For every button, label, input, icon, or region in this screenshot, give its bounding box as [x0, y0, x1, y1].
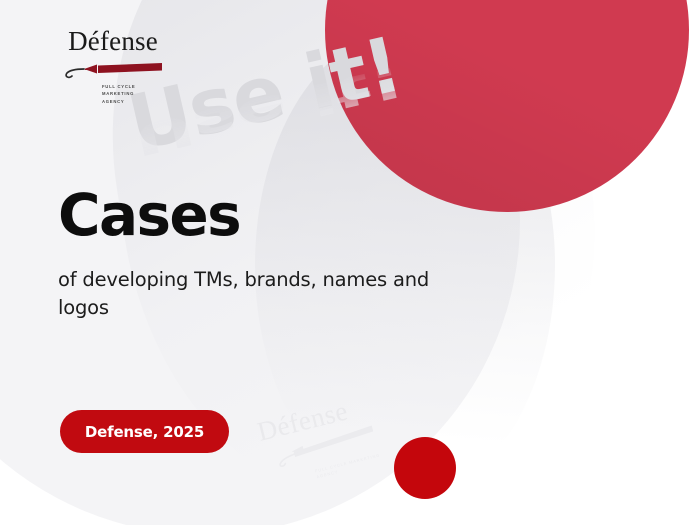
umbrella-icon: [58, 58, 168, 80]
brand-wordmark: Défense: [58, 28, 168, 55]
page-title: Cases: [58, 186, 458, 244]
brand-logo[interactable]: Défense FULL CYCLE MARKETING AGENCY: [58, 28, 168, 105]
small-red-circle-shape: [394, 437, 456, 499]
page-subtitle: of developing TMs, brands, names and log…: [58, 266, 430, 321]
defense-year-button[interactable]: Defense, 2025: [60, 410, 229, 453]
brand-tagline: FULL CYCLE MARKETING AGENCY: [102, 83, 168, 105]
slide-content: Cases of developing TMs, brands, names a…: [58, 186, 458, 321]
presentation-slide: Use it! Use it! Défense FULL CYCLE MARKE…: [0, 0, 700, 525]
